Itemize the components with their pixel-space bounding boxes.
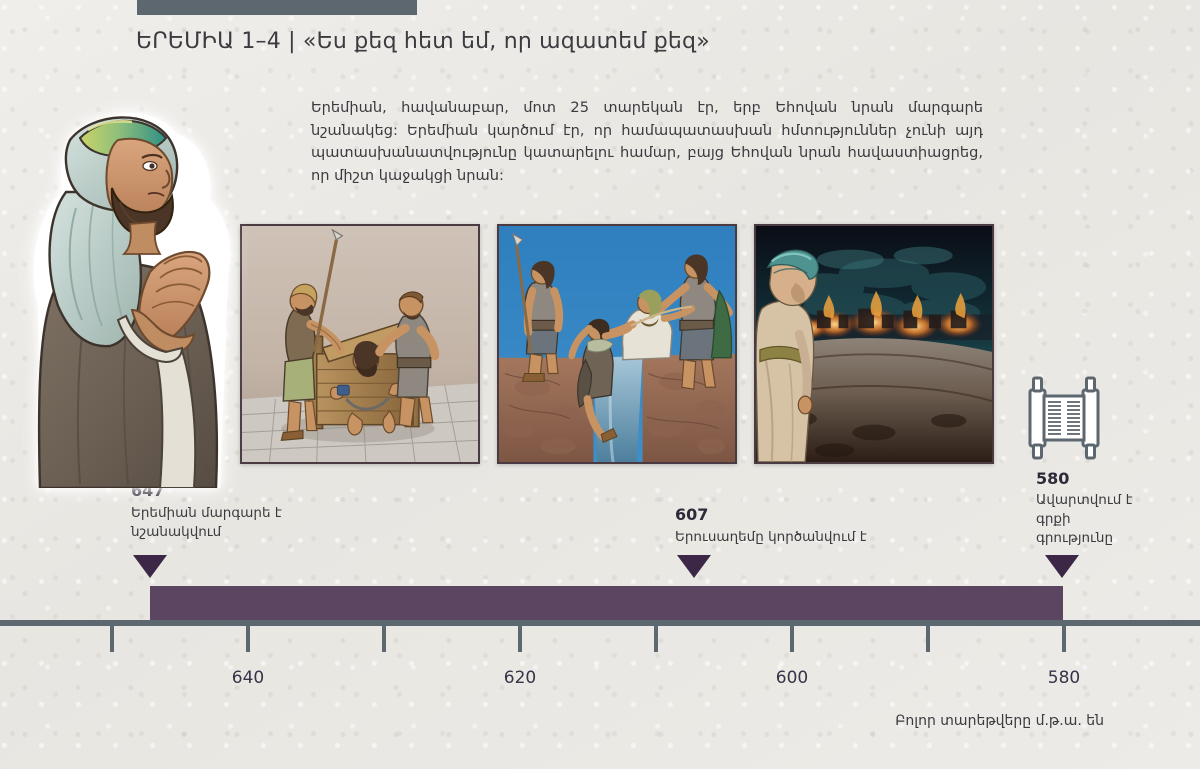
- timeline-tick-580: [1062, 626, 1066, 652]
- timeline-tick-640: [246, 626, 250, 652]
- timeline-event-label-line1: Երուսաղեմը կործանվում է: [675, 529, 867, 545]
- era-footnote: Բոլոր տարեթվերը մ.թ.ա. են: [895, 713, 1104, 729]
- timeline-event-year: 580: [1036, 469, 1069, 488]
- timeline-event-triangle: [677, 555, 711, 578]
- timeline-event-label-line2: նշանակվում: [131, 524, 221, 540]
- timeline-event-triangle: [1045, 555, 1079, 578]
- timeline-event-label-line2: գրքի: [1036, 511, 1071, 527]
- timeline-tick-600: [790, 626, 794, 652]
- timeline-tick-630: [382, 626, 386, 652]
- timeline-tick-610: [654, 626, 658, 652]
- timeline-event-label: Ավարտվում է գրքի գրությունը: [1036, 491, 1186, 548]
- timeline-event-label-line3: գրությունը: [1036, 530, 1113, 546]
- timeline-tick-590: [926, 626, 930, 652]
- infographic-page: ԵՐԵՄԻԱ 1–4 | «Ես քեզ հետ եմ, որ ազատեմ ք…: [0, 0, 1200, 769]
- timeline-range-bar: [150, 586, 1063, 621]
- timeline-tick-label-580: 580: [1048, 668, 1080, 688]
- timeline-axis-line: [0, 620, 1200, 626]
- hero-illustration-praying-prophet: [14, 96, 262, 488]
- timeline-event-label: Երեմիան մարգարե է նշանակվում: [131, 504, 331, 542]
- timeline-tick-650: [110, 626, 114, 652]
- timeline-tick-620: [518, 626, 522, 652]
- timeline-tick-label-620: 620: [504, 668, 536, 688]
- timeline-event-label-line1: Երեմիան մարգարե է: [131, 505, 282, 521]
- timeline-tick-label-640: 640: [232, 668, 264, 688]
- timeline-event-year: 607: [675, 505, 708, 524]
- timeline-event-triangle: [133, 555, 167, 578]
- timeline-tick-label-600: 600: [776, 668, 808, 688]
- timeline-event-label: Երուսաղեմը կործանվում է: [675, 528, 935, 547]
- timeline-event-label-line1: Ավարտվում է: [1036, 492, 1133, 508]
